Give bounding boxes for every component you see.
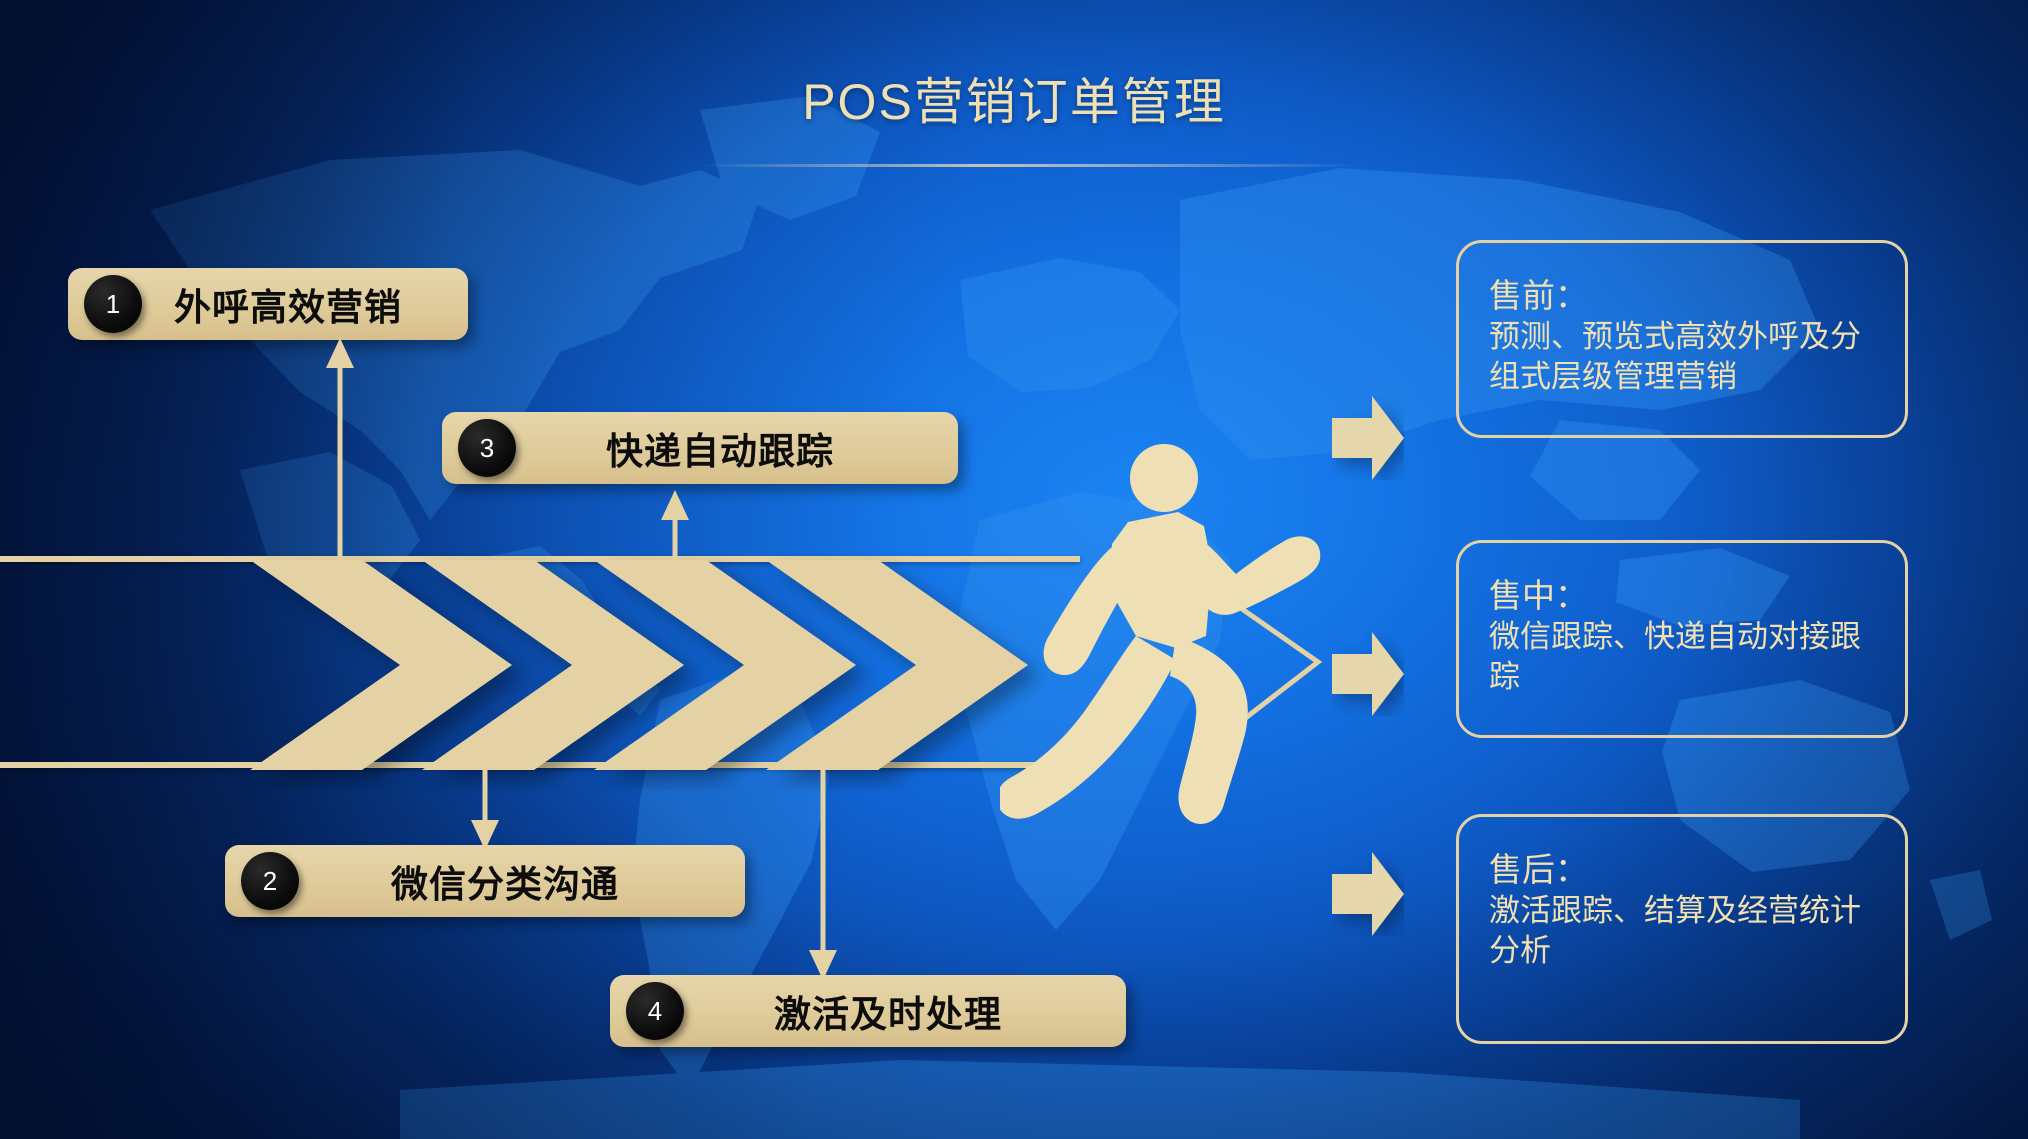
running-person-icon bbox=[1000, 440, 1360, 840]
info-card-aftersale[interactable]: 售后： 激活跟踪、结算及经营统计分析 bbox=[1456, 814, 1908, 1044]
right-block-arrow-icon-2 bbox=[1332, 632, 1404, 716]
connector-arrow-to-step-1 bbox=[320, 336, 360, 562]
step-badge-2: 2 bbox=[241, 852, 299, 910]
step-badge-1: 1 bbox=[84, 275, 142, 333]
info-card-title-aftersale: 售后： bbox=[1489, 851, 1879, 889]
info-card-title-presale: 售前： bbox=[1489, 277, 1879, 315]
connector-arrow-to-step-2 bbox=[465, 756, 505, 852]
right-block-arrow-icon-1 bbox=[1332, 396, 1404, 480]
slide-canvas: POS营销订单管理 1 外呼高效营销 3 快递自动跟踪 bbox=[0, 0, 2028, 1139]
step-label-1: 外呼高效营销 bbox=[142, 277, 468, 331]
right-block-arrow-icon-3 bbox=[1332, 852, 1404, 936]
step-box-3[interactable]: 3 快递自动跟踪 bbox=[442, 412, 958, 484]
info-card-body-aftersale: 激活跟踪、结算及经营统计分析 bbox=[1489, 891, 1879, 970]
page-title: POS营销订单管理 bbox=[0, 62, 2028, 134]
step-label-4: 激活及时处理 bbox=[684, 984, 1126, 1038]
step-box-4[interactable]: 4 激活及时处理 bbox=[610, 975, 1126, 1047]
title-divider bbox=[700, 164, 1360, 167]
connector-arrow-to-step-3 bbox=[655, 488, 695, 566]
info-card-presale[interactable]: 售前： 预测、预览式高效外呼及分组式层级管理营销 bbox=[1456, 240, 1908, 438]
step-label-2: 微信分类沟通 bbox=[299, 854, 745, 908]
info-card-body-presale: 预测、预览式高效外呼及分组式层级管理营销 bbox=[1489, 317, 1879, 396]
step-badge-4: 4 bbox=[626, 982, 684, 1040]
info-card-title-insale: 售中： bbox=[1489, 577, 1879, 615]
info-card-body-insale: 微信跟踪、快递自动对接跟踪 bbox=[1489, 617, 1879, 696]
step-box-2[interactable]: 2 微信分类沟通 bbox=[225, 845, 745, 917]
step-box-1[interactable]: 1 外呼高效营销 bbox=[68, 268, 468, 340]
step-badge-3: 3 bbox=[458, 419, 516, 477]
step-label-3: 快递自动跟踪 bbox=[516, 421, 958, 475]
info-card-insale[interactable]: 售中： 微信跟踪、快递自动对接跟踪 bbox=[1456, 540, 1908, 738]
connector-arrow-to-step-4 bbox=[803, 756, 843, 982]
